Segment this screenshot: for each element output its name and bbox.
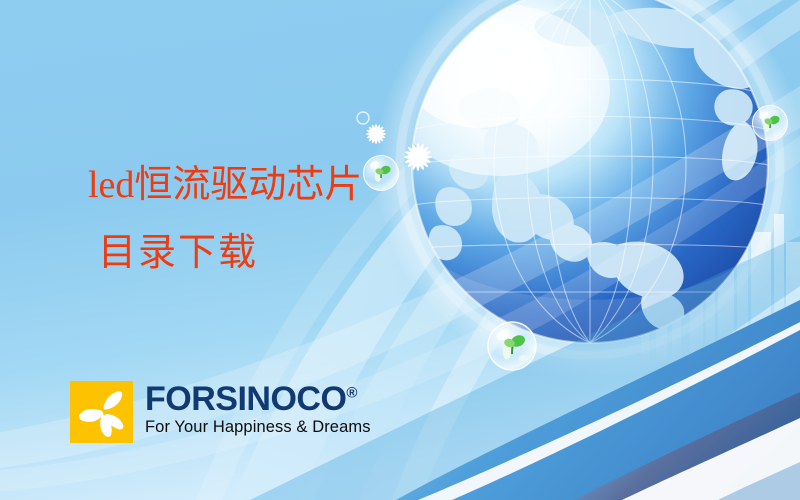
logo-wordmark: FORSINOCO® bbox=[145, 381, 371, 417]
brand-logo: FORSINOCO® For Your Happiness & Dreams bbox=[70, 381, 371, 445]
registered-trademark-icon: ® bbox=[346, 385, 357, 402]
sparkle-medium-icon bbox=[366, 124, 386, 144]
sparkle-large-icon bbox=[404, 143, 432, 171]
sprout-bubble-center bbox=[486, 320, 538, 372]
forsinoco-pinwheel-icon bbox=[70, 381, 133, 443]
sprout-bubble-right bbox=[751, 104, 789, 142]
logo-tagline: For Your Happiness & Dreams bbox=[145, 418, 371, 437]
headline-line-2: 目录下载 bbox=[98, 234, 258, 272]
sprout-bubble-top bbox=[362, 154, 400, 192]
logo-text-block: FORSINOCO® For Your Happiness & Dreams bbox=[145, 381, 371, 437]
logo-wordmark-text: FORSINOCO bbox=[145, 380, 346, 418]
poster-canvas: led恒流驱动芯片 目录下载 FORSINOCO® For You bbox=[0, 0, 800, 500]
headline-line-1: led恒流驱动芯片 bbox=[88, 166, 362, 204]
